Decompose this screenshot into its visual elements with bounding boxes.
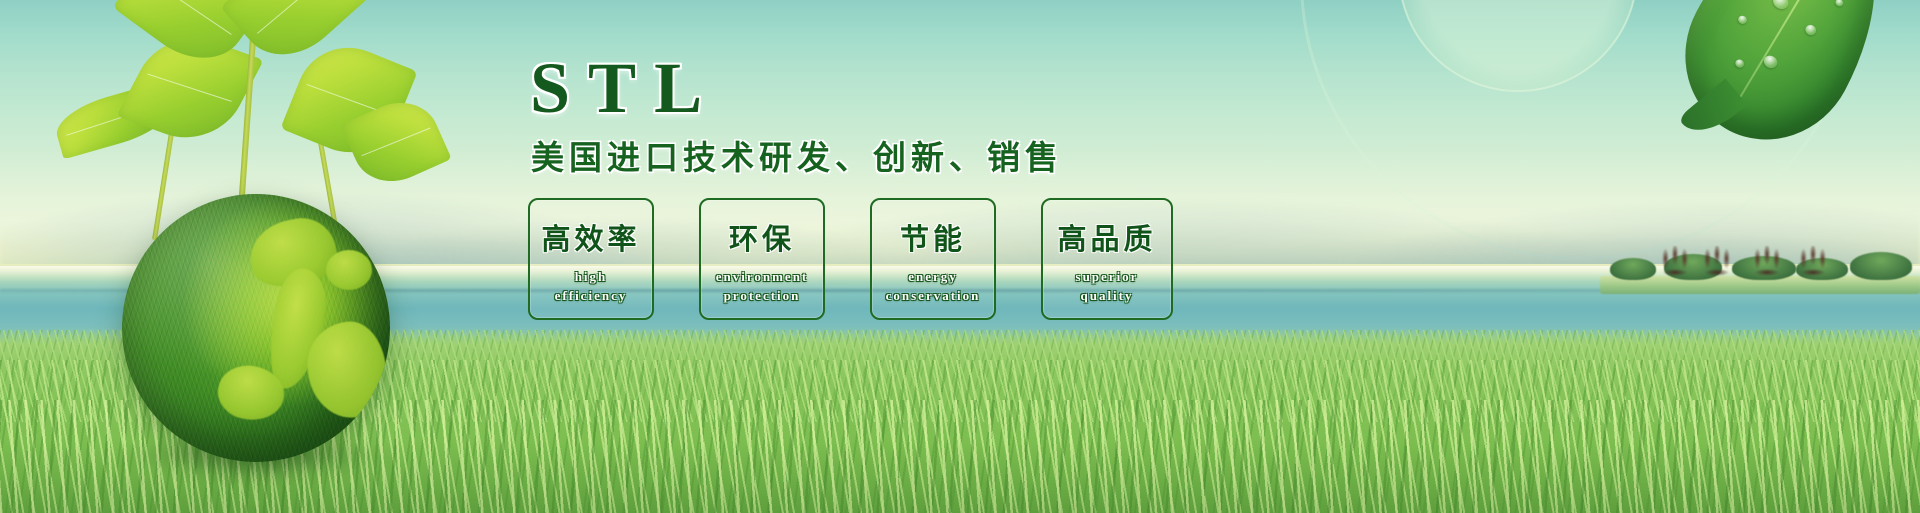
brand-tagline: 美国进口技术研发、创新、销售 [531,131,1063,179]
feature-box-high-efficiency[interactable]: 高效率 high efficiency [528,198,654,320]
feature-box-energy-conservation[interactable]: 节能 energy conservation [870,198,996,320]
promotional-banner: STL 美国进口技术研发、创新、销售 高效率 high efficiency 环… [0,0,1920,513]
feature-box-list: 高效率 high efficiency 环保 environment prote… [528,198,1173,320]
feature-label-en: superior quality [1076,268,1139,306]
feature-label-cn: 环保 [729,224,795,256]
feature-box-environment-protection[interactable]: 环保 environment protection [699,198,825,320]
feature-label-cn: 高品质 [1057,224,1156,256]
feature-box-superior-quality[interactable]: 高品质 superior quality [1041,198,1173,320]
banner-content: STL 美国进口技术研发、创新、销售 高效率 high efficiency 环… [0,0,1920,513]
feature-label-cn: 节能 [900,224,966,256]
feature-label-en: high efficiency [555,268,628,306]
feature-label-en: energy conservation [886,268,981,306]
feature-label-cn: 高效率 [541,224,640,256]
feature-label-en: environment protection [716,268,809,306]
brand-title: STL [530,52,720,124]
